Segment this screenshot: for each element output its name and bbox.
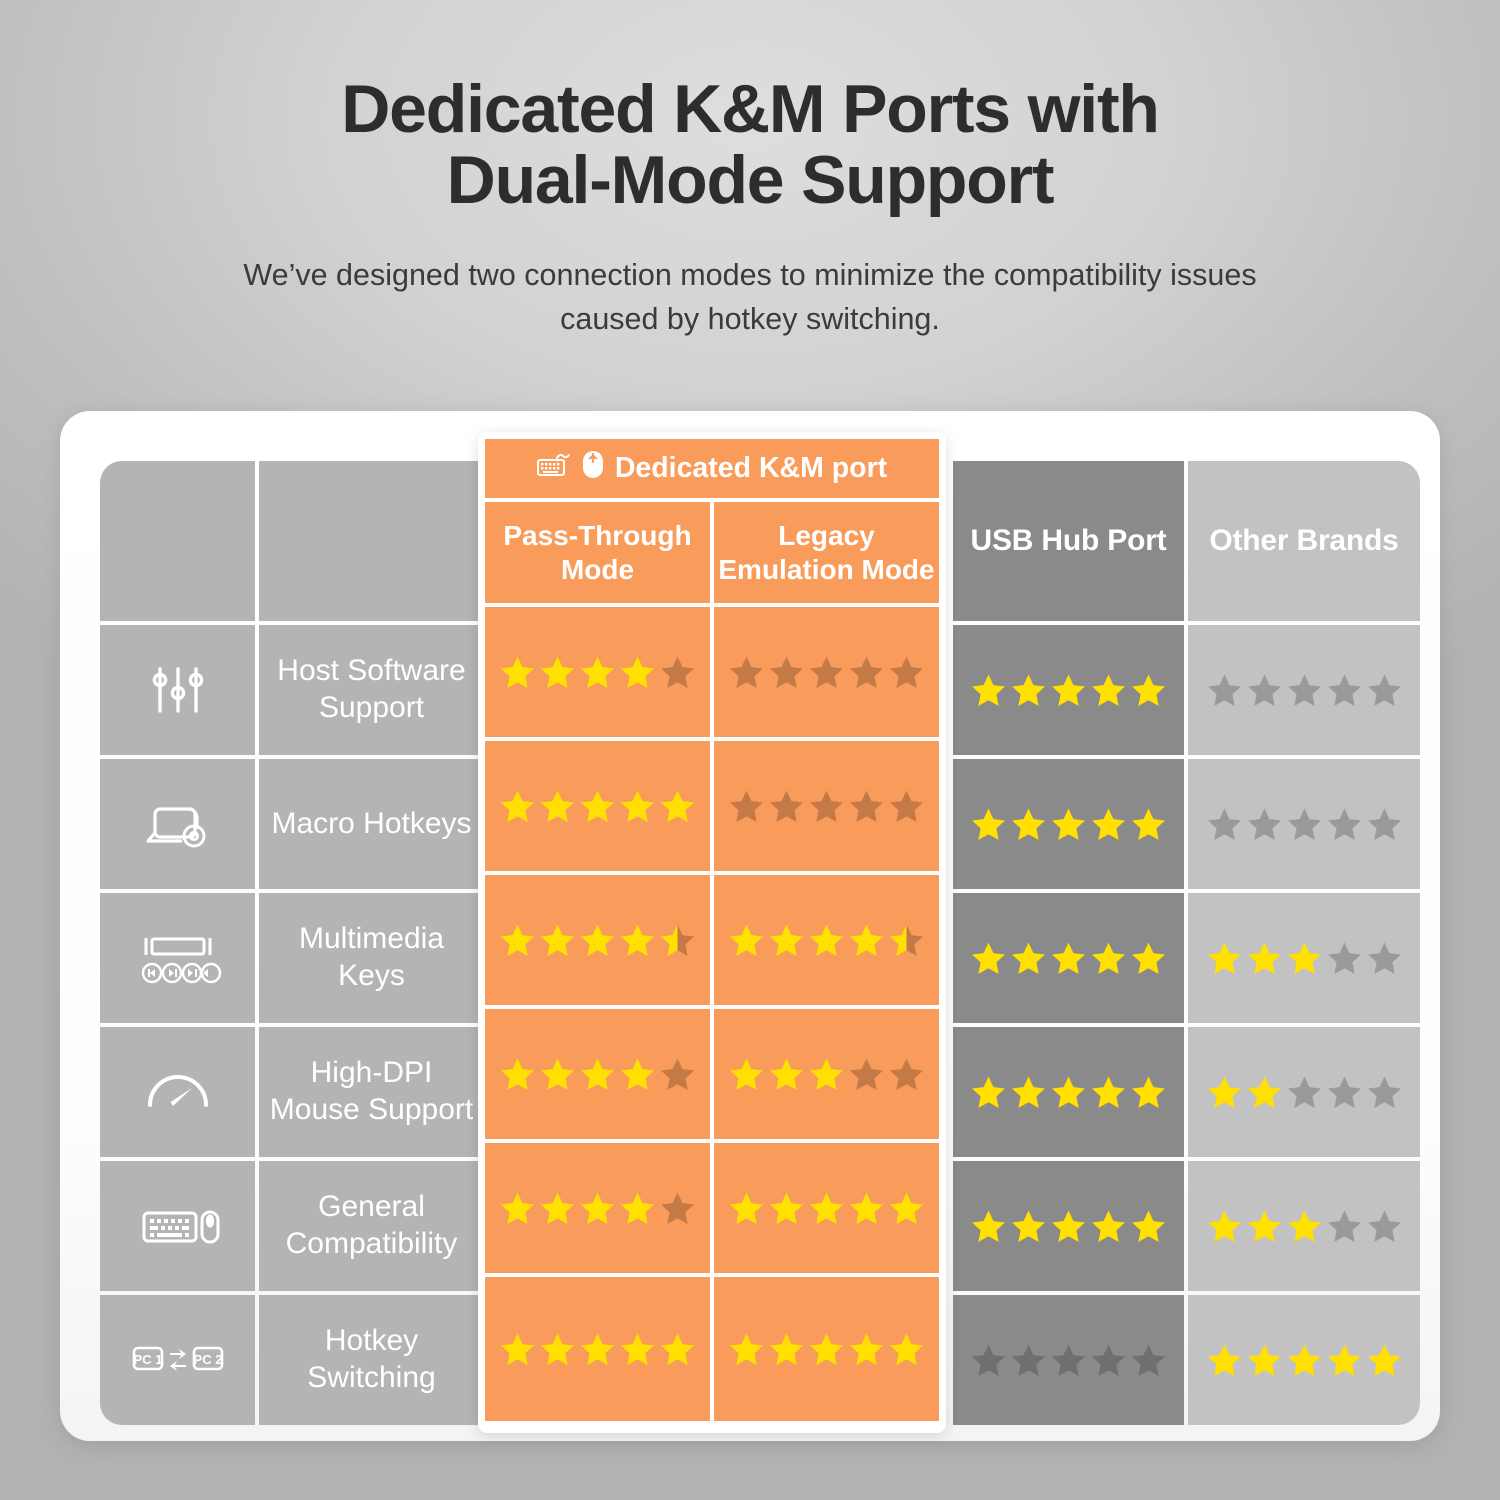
star-icon: [499, 922, 536, 959]
star-icon: [1246, 940, 1283, 977]
cell-pass-through-general-compatibility-stars: [485, 1143, 710, 1273]
star-icon: [1050, 1074, 1087, 1111]
keyboard-icon: [537, 451, 571, 486]
star-icon: [1366, 1342, 1403, 1379]
star-icon: [848, 788, 885, 825]
sliders-icon: [130, 655, 226, 725]
star-icon: [1246, 806, 1283, 843]
page-title: Dedicated K&M Ports with Dual-Mode Suppo…: [0, 74, 1500, 217]
star-icon: [659, 1056, 696, 1093]
rating-stars: [499, 922, 696, 959]
macro-gear-icon: [130, 789, 226, 859]
star-icon: [579, 788, 616, 825]
column-header-pass-through-mode: Pass-Through Mode: [485, 502, 710, 603]
star-icon: [1246, 1342, 1283, 1379]
star-icon: [808, 788, 845, 825]
star-icon: [1206, 1074, 1243, 1111]
row-label-hotkey-switching: Hotkey Switching: [259, 1295, 484, 1425]
cell-usb-hub-general-compatibility: [953, 1161, 1184, 1291]
star-icon: [499, 1331, 536, 1368]
star-icon: [659, 1331, 696, 1368]
star-icon: [888, 922, 925, 959]
star-icon: [1286, 940, 1323, 977]
star-icon: [768, 922, 805, 959]
star-icon: [808, 1190, 845, 1227]
star-icon: [768, 1056, 805, 1093]
star-icon: [1326, 1074, 1363, 1111]
star-icon: [808, 654, 845, 691]
rating-stars: [1206, 1074, 1403, 1111]
page-subtitle: We’ve designed two connection modes to m…: [0, 253, 1500, 341]
star-icon: [1286, 1342, 1323, 1379]
rating-stars: [499, 654, 696, 691]
rating-stars: [728, 654, 925, 691]
star-icon: [728, 1056, 765, 1093]
star-icon: [499, 788, 536, 825]
star-icon: [1286, 1208, 1323, 1245]
row-label-multimedia-keys: Multimedia Keys: [259, 893, 484, 1023]
star-icon: [970, 940, 1007, 977]
star-icon: [1366, 806, 1403, 843]
cell-legacy-high-dpi-mouse-support-stars: [714, 1009, 939, 1139]
page-subtitle-line-2: caused by hotkey switching.: [0, 297, 1500, 341]
star-icon: [1090, 806, 1127, 843]
star-icon: [888, 788, 925, 825]
cell-pass-through-high-dpi-mouse-support-stars: [485, 1009, 710, 1139]
rating-stars: [1206, 1208, 1403, 1245]
row-label-macro-hotkeys: Macro Hotkeys: [259, 759, 484, 889]
star-icon: [619, 1056, 656, 1093]
star-icon: [808, 922, 845, 959]
row-icon-macro-hotkeys: [100, 759, 255, 889]
star-icon: [1286, 1074, 1323, 1111]
cell-legacy-general-compatibility-stars: [714, 1143, 939, 1273]
star-icon: [579, 922, 616, 959]
cell-pass-through-macro-hotkeys-stars: [485, 741, 710, 871]
star-icon: [539, 788, 576, 825]
star-icon: [579, 1331, 616, 1368]
cell-legacy-host-software-support-stars: [714, 607, 939, 737]
cell-pass-through-multimedia-keys-stars: [485, 875, 710, 1005]
star-icon: [1326, 672, 1363, 709]
star-icon: [970, 1208, 1007, 1245]
star-icon: [1246, 1208, 1283, 1245]
star-icon: [1090, 1074, 1127, 1111]
star-icon: [1090, 1208, 1127, 1245]
star-icon: [1366, 672, 1403, 709]
row-icon-multimedia-keys: [100, 893, 255, 1023]
star-icon: [848, 922, 885, 959]
rating-stars: [728, 1190, 925, 1227]
star-icon: [1130, 1074, 1167, 1111]
star-icon: [659, 1190, 696, 1227]
rating-stars: [970, 806, 1167, 843]
star-icon: [659, 788, 696, 825]
star-icon: [539, 922, 576, 959]
star-icon: [1326, 940, 1363, 977]
star-icon: [1050, 806, 1087, 843]
star-icon: [728, 1190, 765, 1227]
star-icon: [659, 922, 696, 959]
rating-stars: [728, 922, 925, 959]
dedicated-km-port-label: Dedicated K&M port: [615, 452, 887, 485]
star-icon: [970, 1342, 1007, 1379]
star-icon: [768, 1190, 805, 1227]
dedicated-km-port-header: Dedicated K&M port: [485, 439, 939, 498]
star-icon: [1206, 1342, 1243, 1379]
star-icon: [1010, 940, 1047, 977]
star-icon: [808, 1331, 845, 1368]
star-icon: [1366, 940, 1403, 977]
star-icon: [970, 806, 1007, 843]
star-icon: [808, 1056, 845, 1093]
star-icon: [1090, 1342, 1127, 1379]
star-icon: [1130, 672, 1167, 709]
star-icon: [1010, 672, 1047, 709]
star-icon: [1130, 1342, 1167, 1379]
table-header-feature-spacer: [259, 461, 484, 621]
row-label-host-software-support: Host Software Support: [259, 625, 484, 755]
star-icon: [848, 1190, 885, 1227]
star-icon: [1366, 1208, 1403, 1245]
cell-other-brands-hotkey-switching: [1188, 1295, 1420, 1425]
star-icon: [1010, 1208, 1047, 1245]
star-icon: [579, 1190, 616, 1227]
cell-usb-hub-hotkey-switching: [953, 1295, 1184, 1425]
rating-stars: [728, 1331, 925, 1368]
star-icon: [848, 1331, 885, 1368]
star-icon: [1326, 1208, 1363, 1245]
star-icon: [888, 1190, 925, 1227]
star-icon: [619, 1331, 656, 1368]
rating-stars: [1206, 940, 1403, 977]
row-icon-host-software-support: [100, 625, 255, 755]
row-icon-high-dpi-mouse-support: [100, 1027, 255, 1157]
cell-legacy-macro-hotkeys-stars: [714, 741, 939, 871]
star-icon: [619, 922, 656, 959]
column-header-other-brands: Other Brands: [1188, 461, 1420, 621]
column-header-legacy-emulation-mode: Legacy Emulation Mode: [714, 502, 939, 603]
star-icon: [1050, 1342, 1087, 1379]
cell-usb-hub-host-software-support: [953, 625, 1184, 755]
rating-stars: [728, 788, 925, 825]
cell-usb-hub-multimedia-keys: [953, 893, 1184, 1023]
page-title-line-2: Dual-Mode Support: [0, 145, 1500, 216]
star-icon: [768, 654, 805, 691]
star-icon: [1286, 806, 1323, 843]
rating-stars: [499, 1331, 696, 1368]
star-icon: [1010, 1074, 1047, 1111]
star-icon: [1206, 1208, 1243, 1245]
star-icon: [888, 654, 925, 691]
star-icon: [539, 1190, 576, 1227]
cell-other-brands-host-software-support: [1188, 625, 1420, 755]
star-icon: [768, 1331, 805, 1368]
cell-other-brands-multimedia-keys: [1188, 893, 1420, 1023]
star-icon: [1206, 672, 1243, 709]
star-icon: [1286, 672, 1323, 709]
star-icon: [1326, 1342, 1363, 1379]
rating-stars: [728, 1056, 925, 1093]
star-icon: [1366, 1074, 1403, 1111]
cell-legacy-hotkey-switching-stars: [714, 1277, 939, 1421]
cell-usb-hub-high-dpi-mouse-support: [953, 1027, 1184, 1157]
row-label-general-compatibility: General Compatibility: [259, 1161, 484, 1291]
star-icon: [1010, 806, 1047, 843]
dedicated-km-port-highlight-panel: Dedicated K&M port Pass-Through Mode Leg…: [478, 432, 946, 1433]
rating-stars: [1206, 806, 1403, 843]
row-label-high-dpi-mouse-support: High-DPI Mouse Support: [259, 1027, 484, 1157]
rating-stars: [970, 672, 1167, 709]
svg-text:PC 2: PC 2: [193, 1352, 222, 1367]
star-icon: [1090, 672, 1127, 709]
star-icon: [848, 1056, 885, 1093]
star-icon: [619, 788, 656, 825]
rating-stars: [970, 1208, 1167, 1245]
star-icon: [619, 1190, 656, 1227]
star-icon: [579, 654, 616, 691]
star-icon: [1050, 672, 1087, 709]
rating-stars: [499, 1190, 696, 1227]
rating-stars: [1206, 672, 1403, 709]
cell-pass-through-host-software-support-stars: [485, 607, 710, 737]
row-icon-hotkey-switching: PC 1 PC 2: [100, 1295, 255, 1425]
rating-stars: [970, 1074, 1167, 1111]
star-icon: [970, 672, 1007, 709]
star-icon: [888, 1056, 925, 1093]
page-title-line-1: Dedicated K&M Ports with: [0, 74, 1500, 145]
table-header-icon-spacer: [100, 461, 255, 621]
star-icon: [1010, 1342, 1047, 1379]
star-icon: [848, 654, 885, 691]
svg-text:PC 1: PC 1: [133, 1352, 162, 1367]
star-icon: [1206, 940, 1243, 977]
column-header-other-brands-label: Other Brands: [1209, 524, 1398, 558]
rating-stars: [499, 1056, 696, 1093]
rating-stars: [970, 940, 1167, 977]
keyboard-mouse-icon: [130, 1191, 226, 1261]
cell-legacy-multimedia-keys-stars: [714, 875, 939, 1005]
page-subtitle-line-1: We’ve designed two connection modes to m…: [0, 253, 1500, 297]
star-icon: [539, 1331, 576, 1368]
media-keys-icon: [130, 923, 226, 993]
star-icon: [768, 788, 805, 825]
star-icon: [1326, 806, 1363, 843]
star-icon: [539, 1056, 576, 1093]
page-header: Dedicated K&M Ports with Dual-Mode Suppo…: [0, 0, 1500, 341]
cell-pass-through-hotkey-switching-stars: [485, 1277, 710, 1421]
star-icon: [499, 1190, 536, 1227]
star-icon: [539, 654, 576, 691]
star-icon: [619, 654, 656, 691]
star-icon: [499, 654, 536, 691]
cell-usb-hub-macro-hotkeys: [953, 759, 1184, 889]
star-icon: [1090, 940, 1127, 977]
star-icon: [1130, 806, 1167, 843]
cell-other-brands-general-compatibility: [1188, 1161, 1420, 1291]
cell-other-brands-macro-hotkeys: [1188, 759, 1420, 889]
star-icon: [1130, 1208, 1167, 1245]
cell-other-brands-high-dpi-mouse-support: [1188, 1027, 1420, 1157]
speed-gauge-icon: [130, 1057, 226, 1127]
rating-stars: [499, 788, 696, 825]
star-icon: [499, 1056, 536, 1093]
pc-switch-icon: PC 1 PC 2: [130, 1325, 226, 1395]
row-icon-general-compatibility: [100, 1161, 255, 1291]
star-icon: [659, 654, 696, 691]
star-icon: [728, 788, 765, 825]
star-icon: [1246, 672, 1283, 709]
rating-stars: [1206, 1342, 1403, 1379]
column-header-usb-hub-port-label: USB Hub Port: [971, 524, 1167, 558]
star-icon: [1050, 940, 1087, 977]
star-icon: [1206, 806, 1243, 843]
star-icon: [728, 1331, 765, 1368]
column-header-usb-hub-port: USB Hub Port: [953, 461, 1184, 621]
mouse-icon: [582, 450, 604, 487]
star-icon: [970, 1074, 1007, 1111]
star-icon: [579, 1056, 616, 1093]
star-icon: [1050, 1208, 1087, 1245]
rating-stars: [970, 1342, 1167, 1379]
star-icon: [1246, 1074, 1283, 1111]
star-icon: [728, 922, 765, 959]
star-icon: [1130, 940, 1167, 977]
star-icon: [888, 1331, 925, 1368]
star-icon: [728, 654, 765, 691]
